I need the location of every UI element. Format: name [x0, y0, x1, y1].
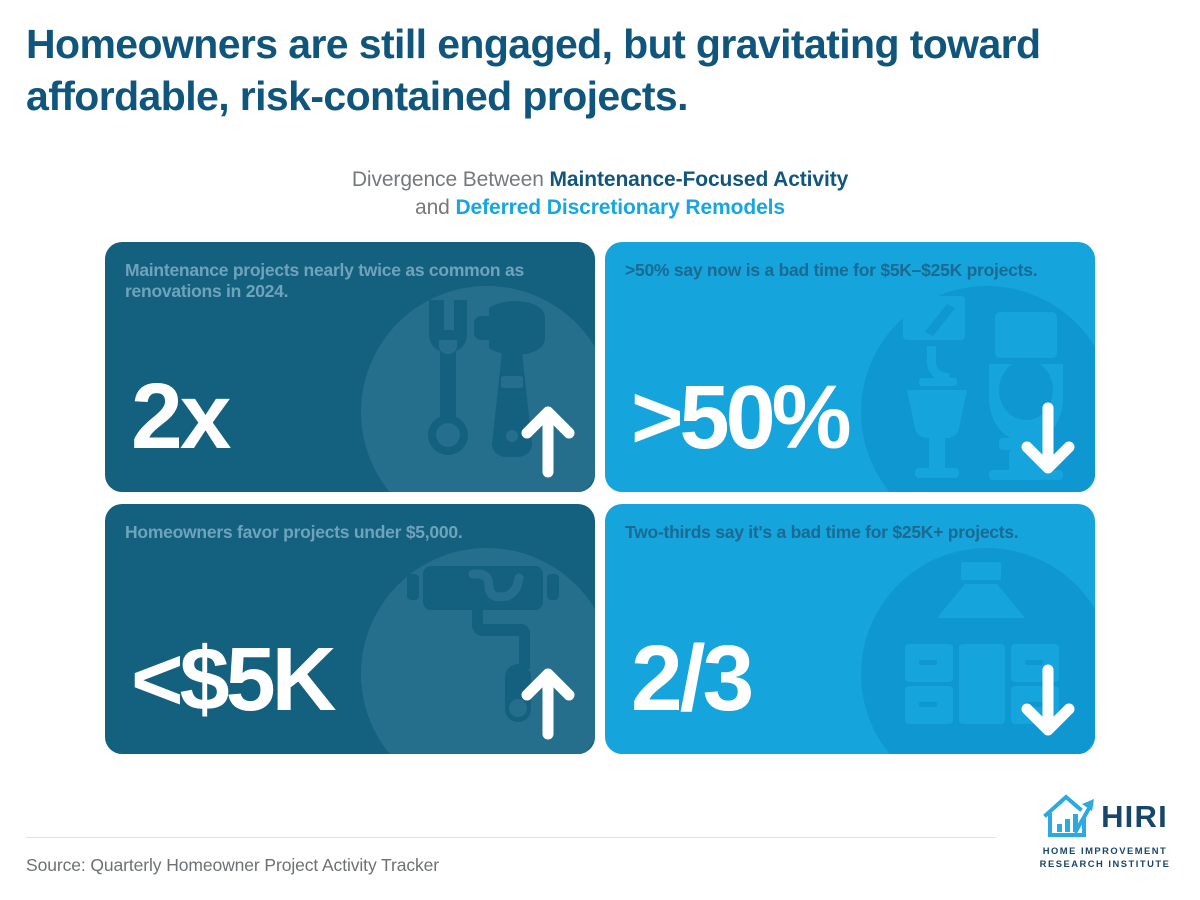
trend-down-arrow-icon [1021, 402, 1075, 478]
footer-divider [26, 837, 996, 838]
card-stat-value: 2/3 [631, 636, 751, 722]
stat-card-bad-time-midrange[interactable]: >50% say now is a bad time for $5K–$25K … [605, 242, 1095, 492]
subtitle-line-2-emphasis: Deferred Discretionary Remodels [455, 196, 785, 219]
card-stat-value: 2x [131, 374, 228, 460]
card-label: Homeowners favor projects under $5,000. [125, 522, 577, 543]
subtitle-line-1-plain: Divergence Between [352, 168, 550, 191]
logo-tagline: HOME IMPROVEMENT RESEARCH INSTITUTE [1025, 844, 1185, 870]
subtitle-line-2-plain: and [415, 196, 455, 219]
hiri-logo: HIRI HOME IMPROVEMENT RESEARCH INSTITUTE [1025, 793, 1185, 883]
card-stat-value: <$5K [131, 639, 333, 722]
source-note: Source: Quarterly Homeowner Project Acti… [26, 855, 439, 876]
stat-card-maintenance-frequency[interactable]: Maintenance projects nearly twice as com… [105, 242, 595, 492]
logo-wordmark: HIRI [1101, 801, 1168, 832]
page-title: Homeowners are still engaged, but gravit… [26, 18, 1156, 123]
stat-card-under-5k[interactable]: Homeowners favor projects under $5,000. … [105, 504, 595, 754]
card-label: Two-thirds say it's a bad time for $25K+… [625, 522, 1077, 543]
logo-tagline-line-2: RESEARCH INSTITUTE [1025, 857, 1185, 870]
card-stat-value: >50% [631, 377, 848, 460]
card-label: >50% say now is a bad time for $5K–$25K … [625, 260, 1077, 281]
subtitle-line-2: and Deferred Discretionary Remodels [0, 194, 1200, 222]
house-growth-chart-icon [1042, 793, 1096, 839]
trend-up-arrow-icon [521, 664, 575, 740]
logo-tagline-line-1: HOME IMPROVEMENT [1025, 844, 1185, 857]
infographic-page: Homeowners are still engaged, but gravit… [0, 0, 1200, 900]
trend-down-arrow-icon [1021, 664, 1075, 740]
card-label: Maintenance projects nearly twice as com… [125, 260, 577, 303]
trend-up-arrow-icon [521, 402, 575, 478]
stat-card-grid: Maintenance projects nearly twice as com… [105, 242, 1095, 754]
subtitle-line-1: Divergence Between Maintenance-Focused A… [0, 166, 1200, 194]
subtitle: Divergence Between Maintenance-Focused A… [0, 166, 1200, 222]
subtitle-line-1-emphasis: Maintenance-Focused Activity [550, 168, 849, 191]
logo-primary-row: HIRI [1025, 793, 1185, 839]
stat-card-bad-time-large[interactable]: Two-thirds say it's a bad time for $25K+… [605, 504, 1095, 754]
